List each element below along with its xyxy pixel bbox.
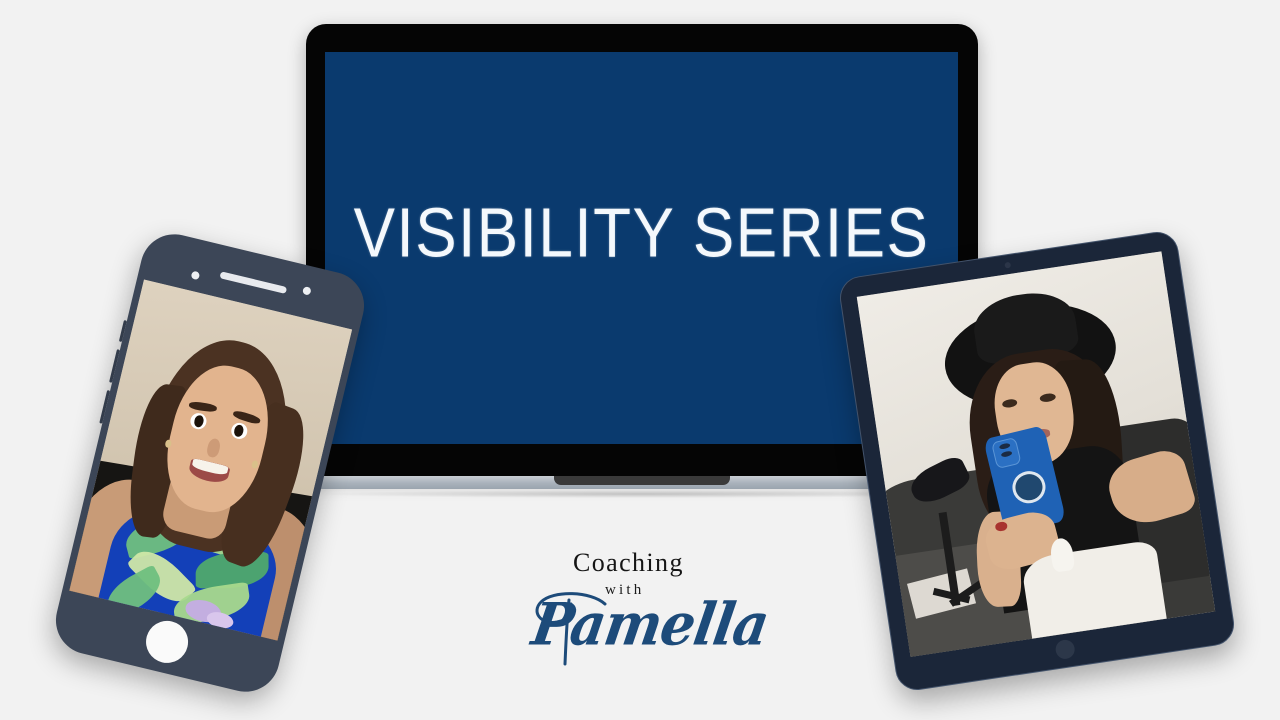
camera-lens-dot — [999, 442, 1010, 449]
promo-graphic-canvas: VISIBILITY SERIES — [0, 0, 1280, 720]
tablet-photo-phone-camera-icon — [991, 437, 1021, 469]
phone-screen — [69, 280, 352, 641]
logo-word-coaching: Coaching — [573, 548, 684, 578]
laptop-trackpad-notch — [554, 476, 730, 485]
camera-lens-dot — [1001, 450, 1012, 457]
tablet-screen — [857, 251, 1215, 657]
phone-device — [49, 227, 371, 698]
brand-logo: Pamella Coaching with — [519, 548, 761, 660]
logo-word-with: with — [605, 582, 644, 599]
screen-title: VISIBILITY SERIES — [354, 199, 930, 268]
laptop-shadow — [322, 490, 962, 498]
logo-script-name: Pamella — [528, 589, 774, 658]
tablet-device — [837, 229, 1237, 693]
tablet-photo-phone-ring-holder — [1009, 468, 1049, 506]
